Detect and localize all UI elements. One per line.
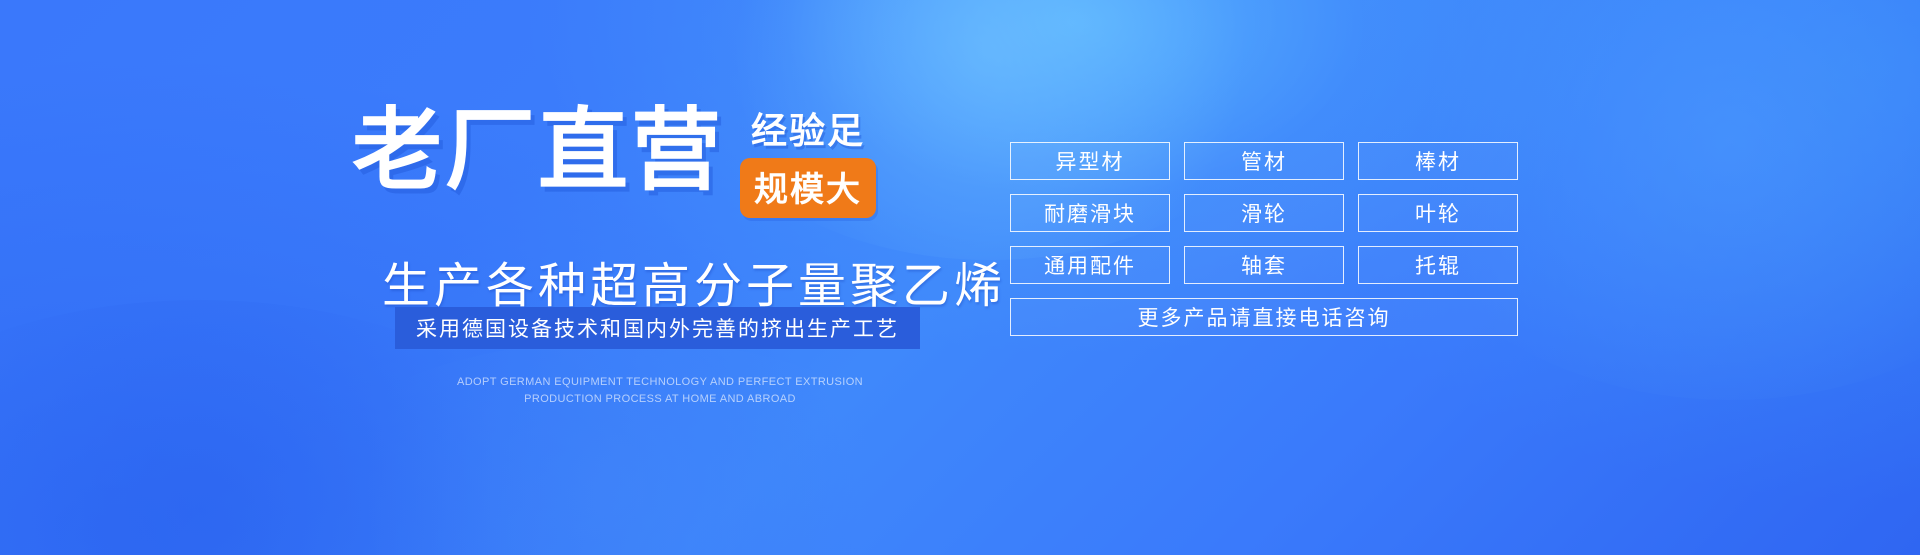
product-button-bangcai[interactable]: 棒材 xyxy=(1358,142,1518,180)
product-row-2: 耐磨滑块 滑轮 叶轮 xyxy=(1010,194,1518,232)
product-button-tuogun[interactable]: 托辊 xyxy=(1358,246,1518,284)
sub-title: 生产各种超高分子量聚乙烯 xyxy=(382,246,1006,316)
process-strip: 采用德国设备技术和国内外完善的挤出生产工艺 xyxy=(395,307,920,349)
product-button-tongyongpeijian[interactable]: 通用配件 xyxy=(1010,246,1170,284)
product-button-hualun[interactable]: 滑轮 xyxy=(1184,194,1344,232)
main-title: 老厂直营 xyxy=(352,106,724,196)
product-button-naimohuakuai[interactable]: 耐磨滑块 xyxy=(1010,194,1170,232)
product-row-3: 通用配件 轴套 托辊 xyxy=(1010,246,1518,284)
process-strip-text: 采用德国设备技术和国内外完善的挤出生产工艺 xyxy=(416,313,899,343)
product-button-guancai[interactable]: 管材 xyxy=(1184,142,1344,180)
product-button-yixingcai[interactable]: 异型材 xyxy=(1010,142,1170,180)
product-row-1: 异型材 管材 棒材 xyxy=(1010,142,1518,180)
english-caption-line-1: ADOPT GERMAN EQUIPMENT TECHNOLOGY AND PE… xyxy=(380,374,940,391)
product-button-contact-for-more[interactable]: 更多产品请直接电话咨询 xyxy=(1010,298,1518,336)
badge-experience: 经验足 xyxy=(751,110,865,152)
product-button-zhoutao[interactable]: 轴套 xyxy=(1184,246,1344,284)
headline-row: 老厂直营 经验足 规模大 xyxy=(352,106,876,218)
badge-scale: 规模大 xyxy=(740,158,876,218)
headline-badges: 经验足 规模大 xyxy=(740,110,876,218)
product-category-grid: 异型材 管材 棒材 耐磨滑块 滑轮 叶轮 通用配件 轴套 托辊 更多产品请直接电… xyxy=(1010,142,1518,336)
product-row-4: 更多产品请直接电话咨询 xyxy=(1010,298,1518,336)
english-caption: ADOPT GERMAN EQUIPMENT TECHNOLOGY AND PE… xyxy=(380,374,940,408)
banner-copy-block: 老厂直营 经验足 规模大 生产各种超高分子量聚乙烯 采用德国设备技术和国内外完善… xyxy=(0,0,1000,555)
english-caption-line-2: PRODUCTION PROCESS AT HOME AND ABROAD xyxy=(380,391,940,408)
product-button-yelun[interactable]: 叶轮 xyxy=(1358,194,1518,232)
promo-banner: 老厂直营 经验足 规模大 生产各种超高分子量聚乙烯 采用德国设备技术和国内外完善… xyxy=(0,0,1920,555)
